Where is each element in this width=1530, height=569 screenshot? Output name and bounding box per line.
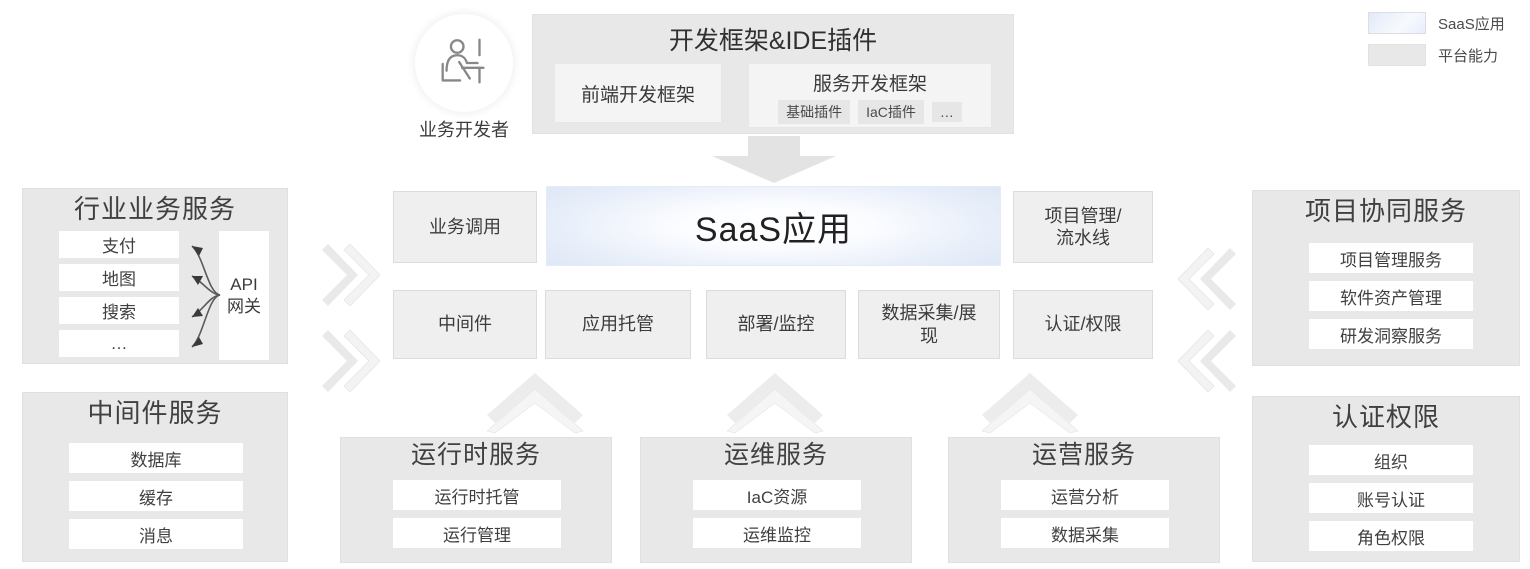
capability-business-invocation[interactable]: 业务调用: [393, 191, 537, 263]
legend-item-saas: SaaS应用: [1368, 12, 1505, 34]
dev-framework-card-service[interactable]: 服务开发框架 基础插件 IaC插件 …: [748, 63, 992, 128]
dev-framework-title: 开发框架&IDE插件: [533, 21, 1013, 57]
service-framework-label: 服务开发框架: [813, 69, 927, 96]
operations-services-title: 运营服务: [949, 442, 1219, 470]
frontend-framework-label: 前端开发框架: [581, 80, 695, 107]
capability-data-collection-line1: 数据采集/展: [881, 302, 976, 325]
architecture-diagram: SaaS应用 平台能力 业务开发者: [0, 0, 1530, 569]
middleware-item-database[interactable]: 数据库: [69, 443, 243, 473]
industry-item-payment[interactable]: 支付: [59, 231, 179, 258]
middleware-item-message[interactable]: 消息: [69, 519, 243, 549]
api-gateway-line2: 网关: [227, 296, 261, 317]
panel-middleware-services: 中间件服务 数据库 缓存 消息: [22, 392, 288, 562]
dev-framework-panel: 开发框架&IDE插件 前端开发框架 服务开发框架 基础插件 IaC插件 …: [532, 14, 1014, 134]
double-chevron-left-lower-icon: [1176, 330, 1238, 397]
project-collab-item-asset[interactable]: 软件资产管理: [1309, 281, 1473, 311]
capability-project-management-pipeline[interactable]: 项目管理/ 流水线: [1013, 191, 1153, 263]
runtime-item-hosting[interactable]: 运行时托管: [393, 480, 561, 510]
capability-app-hosting[interactable]: 应用托管: [545, 290, 691, 359]
plugin-basic[interactable]: 基础插件: [778, 100, 850, 124]
double-chevron-up-runtime-icon: [485, 371, 585, 438]
api-gateway-box[interactable]: API 网关: [219, 231, 269, 360]
down-block-arrow-icon: [700, 136, 848, 184]
industry-services-title: 行业业务服务: [23, 195, 287, 224]
legend-label-saas: SaaS应用: [1438, 13, 1505, 34]
legend-label-platform: 平台能力: [1438, 45, 1498, 66]
double-chevron-up-operations-icon: [980, 371, 1080, 438]
capability-deploy-monitor[interactable]: 部署/监控: [706, 290, 846, 359]
developer-label: 业务开发者: [410, 116, 518, 142]
plugin-more[interactable]: …: [932, 102, 962, 122]
industry-item-more[interactable]: …: [59, 330, 179, 357]
legend: SaaS应用 平台能力: [1368, 12, 1505, 66]
double-chevron-right-upper-icon: [320, 244, 382, 311]
legend-swatch-saas-icon: [1368, 12, 1426, 34]
project-collab-title: 项目协同服务: [1253, 197, 1519, 226]
ops-item-iac-resource[interactable]: IaC资源: [693, 480, 861, 510]
double-chevron-left-upper-icon: [1176, 248, 1238, 315]
double-chevron-right-lower-icon: [320, 330, 382, 397]
capability-data-collection-line2: 现: [881, 325, 976, 348]
capability-data-collection-display[interactable]: 数据采集/展 现: [858, 290, 1000, 359]
capability-business-invocation-label: 业务调用: [429, 216, 501, 239]
middleware-item-cache[interactable]: 缓存: [69, 481, 243, 511]
panel-project-collaboration-services: 项目协同服务 项目管理服务 软件资产管理 研发洞察服务: [1252, 190, 1520, 366]
dev-framework-card-frontend[interactable]: 前端开发框架: [554, 63, 722, 123]
person-at-desk-icon: [433, 32, 495, 94]
legend-item-platform: 平台能力: [1368, 44, 1505, 66]
industry-item-search[interactable]: 搜索: [59, 297, 179, 324]
panel-ops-services: 运维服务 IaC资源 运维监控: [640, 437, 912, 563]
legend-swatch-platform-icon: [1368, 44, 1426, 66]
project-collab-item-management[interactable]: 项目管理服务: [1309, 243, 1473, 273]
panel-industry-business-services: 行业业务服务 支付 地图 搜索 … API 网关: [22, 188, 288, 364]
auth-item-role[interactable]: 角色权限: [1309, 521, 1473, 551]
project-management-line1: 项目管理/: [1044, 205, 1121, 228]
runtime-item-management[interactable]: 运行管理: [393, 518, 561, 548]
panel-operations-services: 运营服务 运营分析 数据采集: [948, 437, 1220, 563]
developer-circle: [415, 14, 513, 112]
capability-middleware[interactable]: 中间件: [393, 290, 537, 359]
ops-item-monitoring[interactable]: 运维监控: [693, 518, 861, 548]
runtime-services-title: 运行时服务: [341, 442, 611, 470]
middleware-services-title: 中间件服务: [23, 399, 287, 428]
capability-app-hosting-label: 应用托管: [582, 313, 654, 336]
ops-services-title: 运维服务: [641, 442, 911, 470]
auth-item-account[interactable]: 账号认证: [1309, 483, 1473, 513]
plugin-iac[interactable]: IaC插件: [858, 100, 924, 124]
operations-item-analysis[interactable]: 运营分析: [1001, 480, 1169, 510]
auth-permission-title: 认证权限: [1253, 403, 1519, 432]
panel-auth-permission-services: 认证权限 组织 账号认证 角色权限: [1252, 396, 1520, 562]
developer-avatar: 业务开发者: [410, 14, 518, 142]
capability-auth-permission[interactable]: 认证/权限: [1013, 290, 1153, 359]
auth-item-organization[interactable]: 组织: [1309, 445, 1473, 475]
saas-application-label: SaaS应用: [695, 202, 852, 251]
capability-deploy-monitor-label: 部署/监控: [737, 313, 814, 336]
panel-runtime-services: 运行时服务 运行时托管 运行管理: [340, 437, 612, 563]
capability-auth-permission-label: 认证/权限: [1044, 313, 1121, 336]
saas-application-box[interactable]: SaaS应用: [546, 186, 1001, 266]
double-chevron-up-ops-icon: [725, 371, 825, 438]
capability-middleware-label: 中间件: [438, 313, 492, 336]
service-plugin-row: 基础插件 IaC插件 …: [778, 100, 962, 124]
gateway-arrows-icon: [178, 231, 222, 361]
industry-item-map[interactable]: 地图: [59, 264, 179, 291]
api-gateway-line1: API: [227, 274, 261, 295]
project-collab-item-insight[interactable]: 研发洞察服务: [1309, 319, 1473, 349]
project-management-line2: 流水线: [1044, 227, 1121, 250]
operations-item-data-collection[interactable]: 数据采集: [1001, 518, 1169, 548]
